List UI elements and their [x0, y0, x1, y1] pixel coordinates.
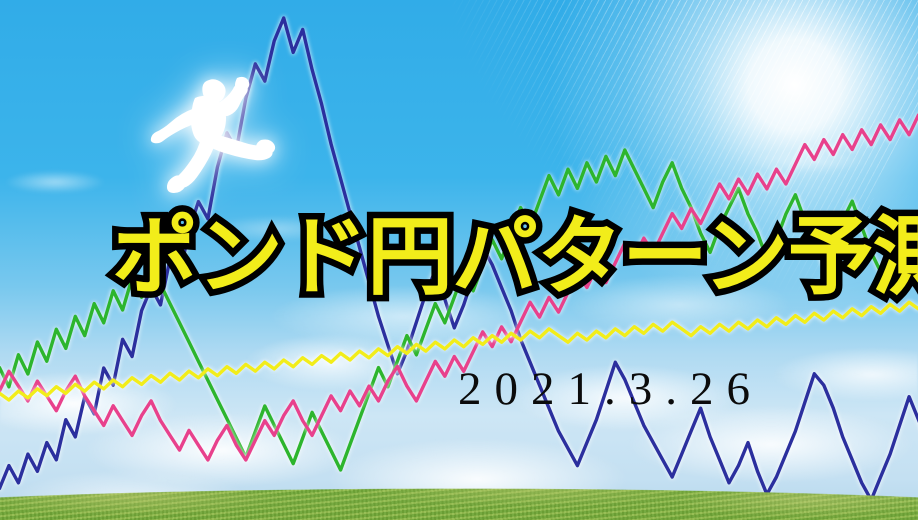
grass-field	[0, 460, 918, 520]
jumping-person-svg	[145, 72, 280, 197]
jumping-person-icon	[145, 72, 280, 197]
grass-highlight	[0, 460, 918, 520]
youtube-thumbnail: ポンド円パターン予測 2021.3.26	[0, 0, 918, 520]
page-title: ポンド円パターン予測	[112, 203, 818, 311]
date-label: 2021.3.26	[458, 362, 763, 416]
